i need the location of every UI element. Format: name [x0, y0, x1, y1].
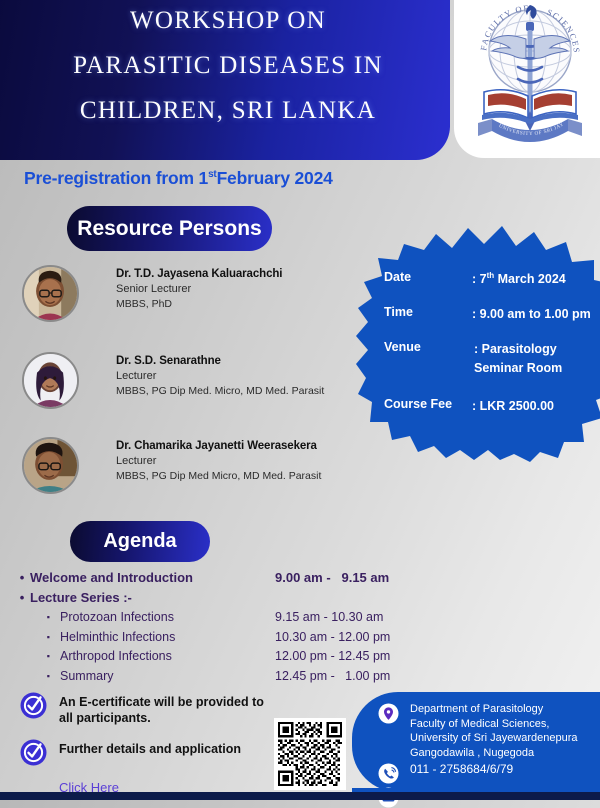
avatar	[22, 265, 79, 322]
agenda-list: • Welcome and Introduction 9.00 am - 9.1…	[14, 568, 474, 686]
person-qualifications: MBBS, PhD	[116, 298, 282, 310]
detail-row-venue: Venue : Parasitology Seminar Room	[384, 340, 600, 376]
venue-label: Venue	[384, 340, 472, 376]
note-text: An E-certificate will be provided to all…	[59, 692, 280, 726]
date-label: Date	[384, 270, 472, 288]
check-circle-icon	[20, 739, 47, 766]
address-line-1: Department of Parasitology	[410, 702, 578, 717]
agenda-item: • Lecture Series :-	[14, 588, 474, 608]
agenda-subitem-time: 10.30 am - 12.00 pm	[275, 628, 390, 648]
agenda-subitem-time: 9.15 am - 10.30 am	[275, 608, 383, 628]
square-bullet-icon: ▪	[14, 667, 60, 687]
agenda-subitem-label: Summary	[60, 667, 275, 687]
university-crest-logo: FACULTY OF SCIENCES	[454, 0, 600, 158]
person-role: Lecturer	[116, 370, 324, 382]
contact-address: Department of Parasitology Faculty of Me…	[378, 702, 600, 760]
person-name: Dr. T.D. Jayasena Kaluarachchi	[116, 268, 282, 280]
person-name: Dr. Chamarika Jayanetti Weerasekera	[116, 440, 321, 452]
square-bullet-icon: ▪	[14, 647, 60, 667]
title-line-1: WORKSHOP ON	[6, 0, 450, 43]
resource-person-3: Dr. Chamarika Jayanetti Weerasekera Lect…	[22, 437, 321, 494]
title-line-3: CHILDREN, SRI LANKA	[6, 88, 450, 133]
person-qualifications: MBBS, PG Dip Med. Micro, MD Med. Parasit	[116, 385, 324, 397]
agenda-subitem-label: Helminthic Infections	[60, 628, 275, 648]
agenda-subitem-time: 12.00 pm - 12.45 pm	[275, 647, 390, 667]
square-bullet-icon: ▪	[14, 628, 60, 648]
agenda-item-label: Lecture Series :-	[30, 588, 275, 608]
qr-code[interactable]	[274, 718, 346, 790]
resource-persons-heading: Resource Persons	[67, 206, 272, 251]
time-label: Time	[384, 305, 472, 323]
bullet-icon: •	[14, 568, 30, 588]
check-circle-icon	[20, 692, 47, 719]
course-fee-value: : LKR 2500.00	[472, 397, 554, 415]
prereg-suffix: February 2024	[217, 168, 333, 188]
prereg-ordinal: st	[208, 169, 217, 180]
location-pin-icon	[378, 703, 399, 724]
page-title: WORKSHOP ON PARASITIC DISEASES IN CHILDR…	[0, 0, 450, 133]
contact-phone: 011 - 2758684/6/79	[378, 762, 600, 784]
agenda-subitem-time: 12.45 pm - 1.00 pm	[275, 667, 390, 687]
time-value: : 9.00 am to 1.00 pm	[472, 305, 591, 323]
prereg-prefix: Pre-registration from 1	[24, 168, 208, 188]
detail-row-fee: Course Fee : LKR 2500.00	[384, 397, 600, 415]
agenda-item-label: Welcome and Introduction	[30, 568, 275, 588]
address-line-4: Gangodawila , Nugegoda	[410, 746, 578, 761]
agenda-item-time: 9.00 am - 9.15 am	[275, 568, 389, 588]
venue-value: : Parasitology Seminar Room	[472, 340, 562, 376]
address-line-2: Faculty of Medical Sciences,	[410, 717, 578, 732]
person-qualifications: MBBS, PG Dip Med Micro, MD Med. Parasit	[116, 470, 321, 482]
agenda-subitem: ▪ Arthropod Infections 12.00 pm - 12.45 …	[14, 647, 474, 667]
pre-registration-text: Pre-registration from 1stFebruary 2024	[24, 168, 333, 189]
event-details-starburst: Date : 7th March 2024 Time : 9.00 am to …	[356, 222, 600, 462]
contact-address-text: Department of Parasitology Faculty of Me…	[410, 702, 578, 760]
address-line-3: University of Sri Jayewardenepura	[410, 731, 578, 746]
square-bullet-icon: ▪	[14, 608, 60, 628]
agenda-item: • Welcome and Introduction 9.00 am - 9.1…	[14, 568, 474, 588]
date-value: : 7th March 2024	[472, 270, 566, 288]
agenda-subitem: ▪ Helminthic Infections 10.30 am - 12.00…	[14, 628, 474, 648]
person-role: Senior Lecturer	[116, 283, 282, 295]
contact-phone-text: 011 - 2758684/6/79	[410, 762, 513, 777]
header-banner: WORKSHOP ON PARASITIC DISEASES IN CHILDR…	[0, 0, 450, 160]
bullet-icon: •	[14, 588, 30, 608]
note-ecertificate: An E-certificate will be provided to all…	[20, 692, 280, 726]
avatar	[22, 352, 79, 409]
note-further-details: Further details and application	[20, 739, 280, 766]
person-name: Dr. S.D. Senarathne	[116, 355, 324, 367]
title-line-2: PARASITIC DISEASES IN	[6, 43, 450, 88]
phone-icon	[378, 763, 399, 784]
note-text: Further details and application	[59, 739, 241, 757]
course-fee-label: Course Fee	[384, 397, 472, 415]
contact-panel: Department of Parasitology Faculty of Me…	[352, 692, 600, 792]
agenda-subitem-label: Arthropod Infections	[60, 647, 275, 667]
footer-bar	[0, 792, 600, 800]
detail-row-time: Time : 9.00 am to 1.00 pm	[384, 305, 600, 323]
resource-person-2: Dr. S.D. Senarathne Lecturer MBBS, PG Di…	[22, 352, 324, 409]
agenda-subitem: ▪ Summary 12.45 pm - 1.00 pm	[14, 667, 474, 687]
resource-person-1: Dr. T.D. Jayasena Kaluarachchi Senior Le…	[22, 265, 282, 322]
agenda-heading: Agenda	[70, 521, 210, 562]
agenda-subitem-label: Protozoan Infections	[60, 608, 275, 628]
person-role: Lecturer	[116, 455, 321, 467]
detail-row-date: Date : 7th March 2024	[384, 270, 600, 288]
agenda-subitem: ▪ Protozoan Infections 9.15 am - 10.30 a…	[14, 608, 474, 628]
notes-block: An E-certificate will be provided to all…	[20, 692, 280, 797]
avatar	[22, 437, 79, 494]
